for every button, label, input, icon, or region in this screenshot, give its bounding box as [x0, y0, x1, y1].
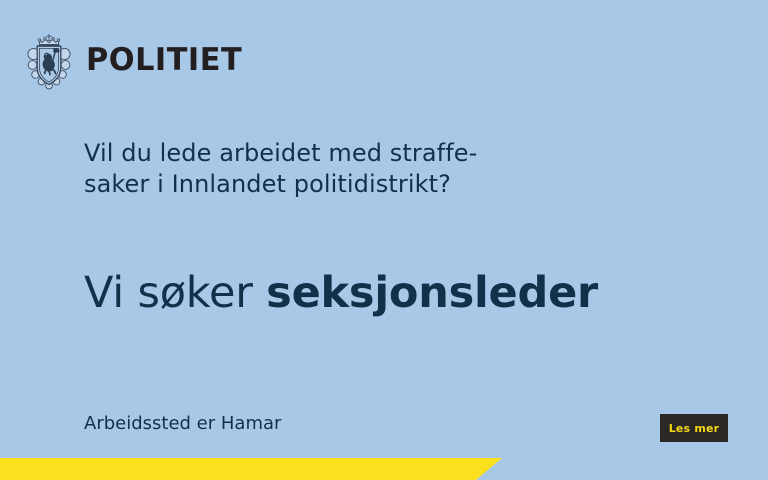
headline-role: seksjonsleder	[266, 268, 598, 318]
kicker-text: Vil du lede arbeidet med straffe- saker …	[84, 138, 624, 200]
politiet-logo: POLITIET	[24, 32, 245, 90]
headline-prefix: Vi søker	[84, 268, 266, 318]
kicker-line-1: Vil du lede arbeidet med straffe-	[84, 138, 624, 169]
recruitment-banner: POLITIET Vil du lede arbeidet med straff…	[0, 0, 768, 480]
workplace-location: Arbeidssted er Hamar	[84, 412, 281, 436]
politiet-wordmark: POLITIET	[86, 45, 242, 78]
kicker-line-2: saker i Innlandet politidistrikt?	[84, 169, 624, 200]
read-more-button[interactable]: Les mer	[660, 414, 728, 442]
headline: Vi søker seksjonsleder	[84, 268, 598, 318]
yellow-accent-stripe	[0, 458, 502, 480]
norwegian-coat-of-arms-icon	[24, 32, 74, 90]
